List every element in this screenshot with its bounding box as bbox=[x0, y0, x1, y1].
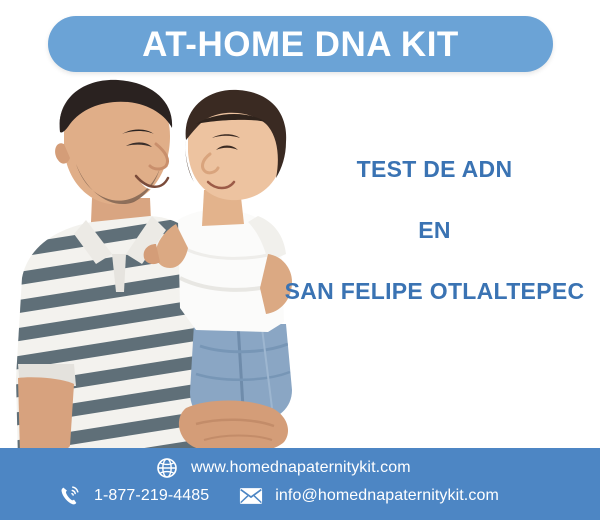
banner-title: AT-HOME DNA KIT bbox=[142, 27, 459, 62]
headline-block: TEST DE ADN EN SAN FELIPE OTLALTEPEC bbox=[282, 158, 587, 303]
headline-line-3: SAN FELIPE OTLALTEPEC bbox=[282, 280, 587, 303]
email-contact[interactable]: info@homednapaternitykit.com bbox=[239, 484, 499, 508]
website-label: www.homednapaternitykit.com bbox=[191, 459, 411, 477]
website-contact[interactable]: www.homednapaternitykit.com bbox=[155, 456, 411, 480]
email-label: info@homednapaternitykit.com bbox=[275, 487, 499, 505]
father-and-child-photo bbox=[0, 78, 320, 460]
envelope-icon bbox=[239, 484, 263, 508]
headline-line-1: TEST DE ADN bbox=[282, 158, 587, 181]
phone-icon bbox=[58, 484, 82, 508]
phone-label: 1-877-219-4485 bbox=[94, 487, 209, 505]
title-banner: AT-HOME DNA KIT bbox=[48, 16, 553, 72]
promo-banner-canvas: AT-HOME DNA KIT bbox=[0, 0, 600, 520]
father-and-child-photo-illustration bbox=[0, 78, 320, 460]
globe-icon bbox=[155, 456, 179, 480]
contact-footer: www.homednapaternitykit.com 1-877-219-44… bbox=[0, 448, 600, 520]
phone-contact[interactable]: 1-877-219-4485 bbox=[58, 484, 209, 508]
contact-row: 1-877-219-4485 info@homednapaternitykit.… bbox=[58, 484, 499, 508]
headline-line-2: EN bbox=[282, 219, 587, 242]
website-row: www.homednapaternitykit.com bbox=[155, 456, 411, 480]
